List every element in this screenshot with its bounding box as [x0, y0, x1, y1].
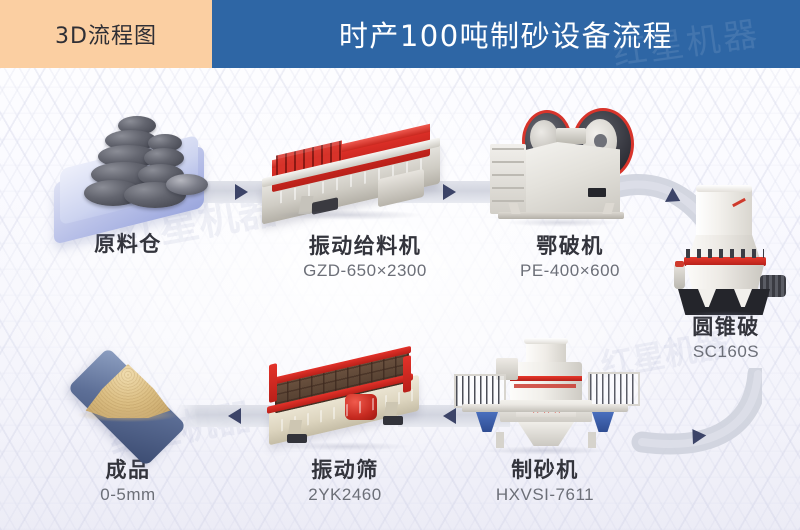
node-label: 振动给料机	[250, 234, 480, 258]
page-title: 时产100吨制砂设备流程	[339, 13, 673, 55]
cone-crusher-icon	[660, 185, 792, 315]
sand-pile-platform-icon	[38, 346, 218, 458]
node-sand-maker[interactable]: ★★★ 制砂机 HXVSI-7611	[440, 338, 650, 505]
node-vibrating-screen[interactable]: 振动筛 2YK2460	[245, 346, 445, 505]
node-model: GZD-650×2300	[250, 261, 480, 281]
flow-diagram-page: 3D流程图 红星机器 时产100吨制砂设备流程 红星机器 红星机器 红星机器	[0, 0, 800, 530]
stone-pile-platform-icon	[38, 112, 218, 232]
node-model: PE-400×600	[480, 261, 660, 281]
node-model: 2YK2460	[245, 485, 445, 505]
node-label: 制砂机	[440, 458, 650, 482]
node-finished-product[interactable]: 成品 0-5mm	[38, 346, 218, 505]
arrow-head-right-1	[235, 184, 248, 200]
node-label: 振动筛	[245, 458, 445, 482]
jaw-crusher-icon	[480, 108, 660, 234]
vibrating-feeder-icon	[250, 112, 480, 234]
node-model: HXVSI-7611	[440, 485, 650, 505]
node-label: 鄂破机	[480, 234, 660, 258]
arrow-head-left-6	[228, 408, 241, 424]
node-cone-crusher[interactable]: 圆锥破 SC160S	[660, 185, 792, 362]
node-raw-material-bin[interactable]: 原料仓	[38, 112, 218, 256]
node-label: 成品	[38, 458, 218, 482]
node-vibrating-feeder[interactable]: 振动给料机 GZD-650×2300	[250, 112, 480, 281]
node-jaw-crusher[interactable]: 鄂破机 PE-400×600	[480, 108, 660, 281]
vsi-sand-maker-icon: ★★★	[440, 338, 650, 458]
vibrating-screen-icon	[245, 346, 445, 458]
node-model: SC160S	[660, 342, 792, 362]
node-model: 0-5mm	[38, 485, 218, 505]
